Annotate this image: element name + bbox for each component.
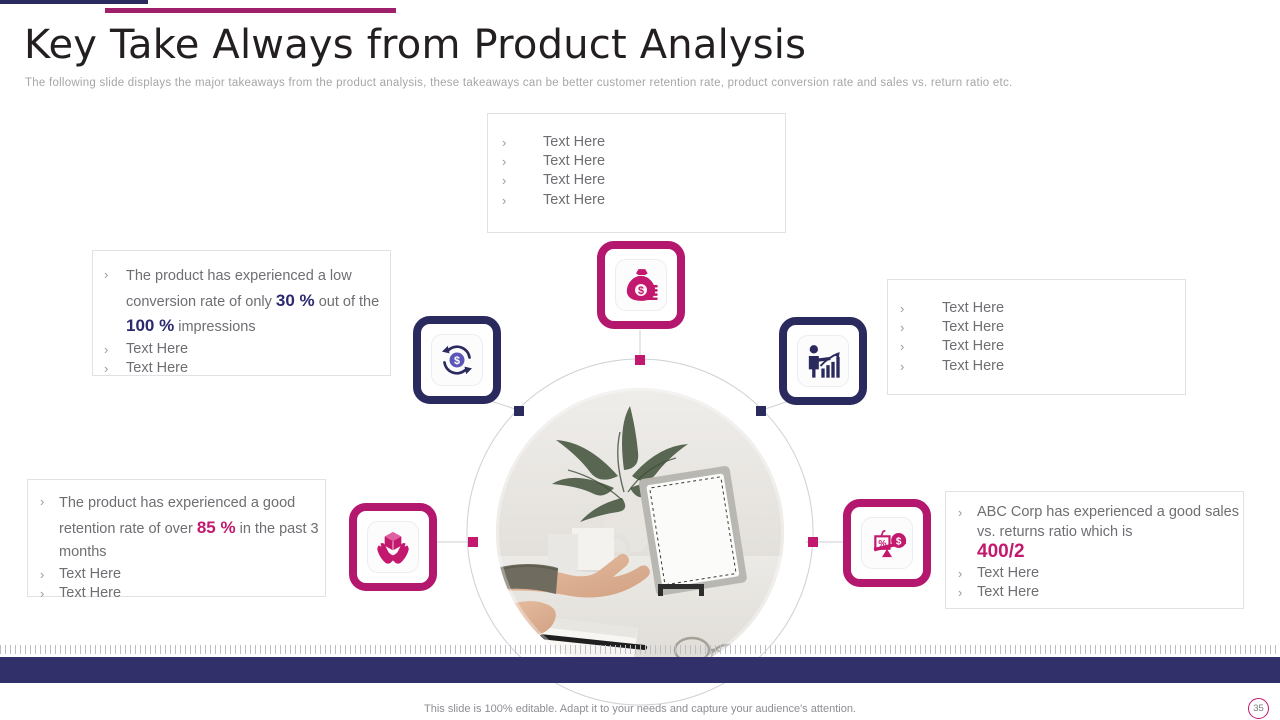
sales-balance-icon-tile[interactable]: % $ (843, 499, 931, 587)
chevron-right-icon: › (104, 340, 108, 359)
page-subtitle: The following slide displays the major t… (25, 77, 1012, 89)
callout-retention-rate: › The product has experienced a good ret… (27, 479, 326, 597)
list-item: › ABC Corp has experienced a good sales … (958, 503, 1243, 564)
text-fragment: out of the (315, 294, 380, 310)
callout-top: ›Text Here ›Text Here ›Text Here ›Text H… (487, 113, 786, 233)
callout-sales-returns-ratio: › ABC Corp has experienced a good sales … (945, 491, 1244, 609)
callout-conversion-rate-list: › The product has experienced a low conv… (93, 251, 390, 378)
list-item: ›Text Here (502, 191, 785, 210)
chevron-right-icon: › (900, 299, 904, 318)
list-item: ›Text Here (958, 564, 1243, 584)
money-bag-icon-tile[interactable]: $ (597, 241, 685, 329)
title-accent-bar-magenta (105, 8, 396, 13)
chevron-right-icon: › (502, 171, 506, 190)
chevron-right-icon: › (900, 337, 904, 356)
growth-presenter-icon (803, 341, 843, 381)
footer-tick-rule (0, 645, 1280, 654)
text-fragment: impressions (174, 319, 255, 335)
sales-balance-icon: % $ (867, 523, 907, 563)
list-item: ›Text Here (502, 171, 785, 190)
chevron-right-icon: › (104, 265, 108, 284)
connector-node-upper-right (756, 406, 766, 416)
list-item: ›Text Here (958, 583, 1243, 603)
list-item: ›Text Here (40, 584, 325, 603)
connector-node-lower-left (468, 537, 478, 547)
conversion-cycle-icon-tile[interactable]: $ (413, 316, 501, 404)
connector-node-lower-right (808, 537, 818, 547)
retention-rate-value: 85 % (197, 518, 236, 537)
chevron-right-icon: › (958, 564, 962, 583)
connector-node-upper-left (514, 406, 524, 416)
chevron-right-icon: › (40, 492, 44, 511)
money-bag-icon: $ (621, 265, 661, 305)
page-title: Key Take Always from Product Analysis (24, 22, 806, 68)
callout-conversion-rate: › The product has experienced a low conv… (92, 250, 391, 376)
footer-note: This slide is 100% editable. Adapt it to… (0, 703, 1280, 715)
list-item: › The product has experienced a low conv… (104, 265, 390, 340)
conversion-cycle-icon: $ (437, 340, 477, 380)
product-care-icon-tile[interactable] (349, 503, 437, 591)
list-item: ›Text Here (502, 152, 785, 171)
chevron-right-icon: › (40, 584, 44, 603)
chevron-right-icon: › (502, 152, 506, 171)
svg-text:$: $ (896, 537, 902, 548)
list-item: ›Text Here (900, 337, 1185, 356)
callout-right-list: ›Text Here ›Text Here ›Text Here ›Text H… (888, 280, 1185, 376)
chevron-right-icon: › (502, 133, 506, 152)
chevron-right-icon: › (958, 503, 962, 522)
title-accent-bar-navy (0, 0, 148, 4)
callout-retention-rate-list: › The product has experienced a good ret… (28, 480, 325, 603)
text-fragment: ABC Corp has experienced a good sales vs… (977, 504, 1239, 540)
list-item: ›Text Here (900, 357, 1185, 376)
chevron-right-icon: › (900, 357, 904, 376)
list-item: ›Text Here (104, 340, 390, 359)
impressions-value: 100 % (126, 316, 174, 335)
svg-text:$: $ (638, 285, 644, 297)
list-item: ›Text Here (900, 318, 1185, 337)
list-item: ›Text Here (502, 133, 785, 152)
list-item: ›Text Here (900, 299, 1185, 318)
conversion-rate-value: 30 % (276, 291, 315, 310)
page-number-badge: 35 (1248, 698, 1269, 719)
callout-top-list: ›Text Here ›Text Here ›Text Here ›Text H… (488, 114, 785, 210)
list-item: ›Text Here (104, 359, 390, 378)
connector-node-top (635, 355, 645, 365)
svg-text:%: % (878, 538, 886, 548)
svg-text:$: $ (454, 355, 460, 367)
chevron-right-icon: › (502, 191, 506, 210)
footer-bar (0, 657, 1280, 683)
center-photo-frame (484, 376, 796, 688)
product-care-icon (373, 527, 413, 567)
desk-workspace-photo (496, 388, 784, 676)
chevron-right-icon: › (40, 565, 44, 584)
callout-right: ›Text Here ›Text Here ›Text Here ›Text H… (887, 279, 1186, 395)
chevron-right-icon: › (900, 318, 904, 337)
callout-sales-returns-ratio-list: › ABC Corp has experienced a good sales … (946, 492, 1243, 603)
chevron-right-icon: › (958, 583, 962, 602)
sales-returns-ratio-value: 400/2 (977, 541, 1025, 562)
chevron-right-icon: › (104, 359, 108, 378)
list-item: › The product has experienced a good ret… (40, 492, 325, 565)
growth-presenter-icon-tile[interactable] (779, 317, 867, 405)
list-item: ›Text Here (40, 565, 325, 584)
